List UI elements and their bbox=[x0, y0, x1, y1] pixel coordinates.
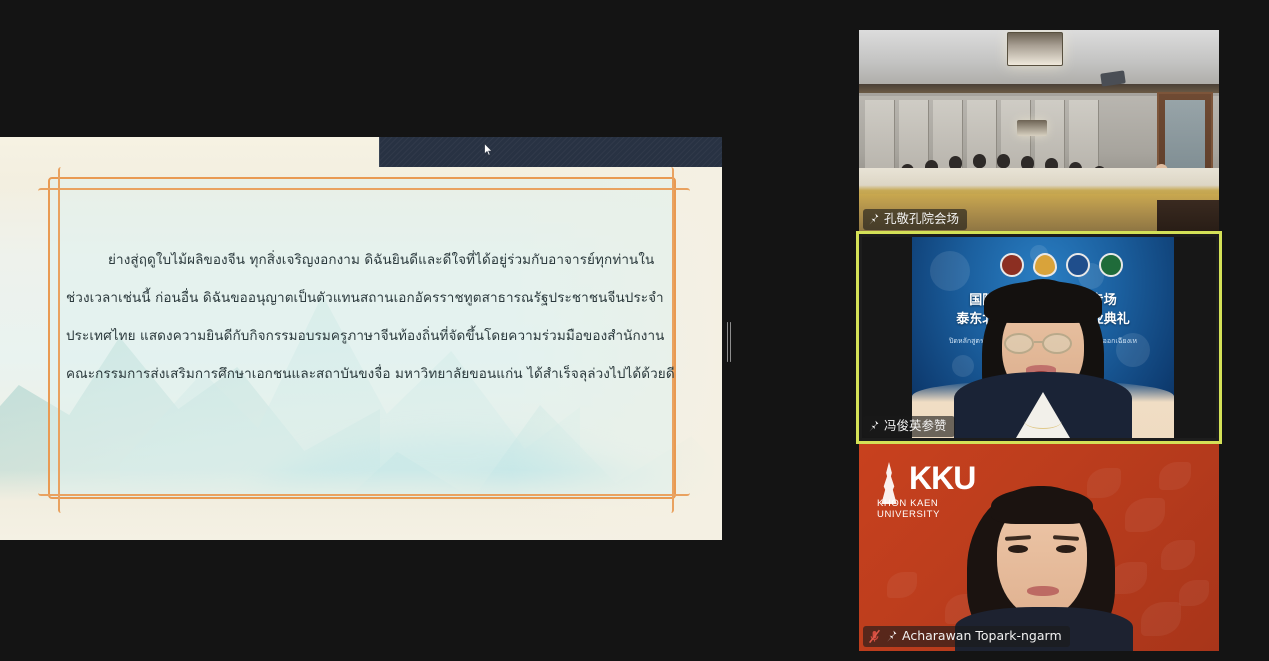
speaker-glasses-right bbox=[1042, 333, 1072, 354]
participant-eye-left bbox=[1008, 545, 1028, 553]
slide-body-text: ย่างสู่ฤดูใบไม้ผลิของจีน ทุกสิ่งเจริญงอก… bbox=[66, 241, 662, 393]
participant-name-label: Acharawan Topark-ngarm bbox=[902, 628, 1062, 644]
slide-paragraph-3: ประเทศไทย แสดงความยินดีกับกิจกรรมอบรมครู… bbox=[66, 317, 662, 355]
split-view-drag-handle[interactable] bbox=[725, 321, 733, 363]
participant-name-chip: Acharawan Topark-ngarm bbox=[863, 626, 1070, 647]
speaker-bangs bbox=[984, 281, 1102, 323]
kku-branded-scene: KKU KHON KAEN UNIVERSITY bbox=[859, 444, 1219, 651]
participant-name-chip: 冯俊英参赞 bbox=[863, 416, 955, 437]
speaker-glasses-left bbox=[1004, 333, 1034, 354]
participant-tile-active-speaker[interactable]: 国际中文 学孔子学院专场 泰东北民校 师培训班结业典礼 ปิดหลักสูตรฝ… bbox=[859, 234, 1219, 441]
participant-tile-conference-room[interactable]: 孔敬孔院会场 bbox=[859, 30, 1219, 234]
speaker-scene: 国际中文 学孔子学院专场 泰东北民校 师培训班结业典礼 ปิดหลักสูตรฝ… bbox=[862, 237, 1216, 438]
room-floor bbox=[1157, 200, 1219, 234]
speaker-necklace bbox=[1024, 413, 1062, 429]
room-pendant-light bbox=[1017, 120, 1047, 136]
mic-muted-icon bbox=[868, 629, 881, 644]
participant-name-label: 冯俊英参赞 bbox=[884, 418, 947, 434]
video-conference-window: ย่างสู่ฤดูใบไม้ผลิของจีน ทุกสิ่งเจริญงอก… bbox=[0, 0, 1269, 661]
participant-eye-right bbox=[1056, 545, 1076, 553]
kku-acronym: KKU bbox=[909, 462, 975, 495]
kku-full-name: KHON KAEN UNIVERSITY bbox=[877, 498, 940, 520]
participant-bangs bbox=[991, 488, 1093, 524]
participant-lips bbox=[1027, 586, 1059, 596]
presentation-slide[interactable]: ย่างสู่ฤดูใบไม้ผลิของจีน ทุกสิ่งเจริญงอก… bbox=[0, 137, 722, 540]
tile-video-feed: 国际中文 学孔子学院专场 泰东北民校 师培训班结业典礼 ปิดหลักสูตรฝ… bbox=[862, 237, 1216, 438]
pin-icon bbox=[868, 420, 879, 433]
shared-screen-region[interactable]: ย่างสู่ฤดูใบไม้ผลิของจีน ทุกสิ่งเจริญงอก… bbox=[0, 0, 740, 661]
speaker-glasses-bridge bbox=[1034, 341, 1044, 343]
pin-icon bbox=[886, 630, 897, 643]
participant-name-label: 孔敬孔院会场 bbox=[884, 211, 959, 227]
pin-icon bbox=[868, 213, 879, 226]
event-logo-row bbox=[1000, 253, 1123, 277]
slide-ornamental-frame: ย่างสู่ฤดูใบไม้ผลิของจีน ทุกสิ่งเจริญงอก… bbox=[48, 177, 676, 499]
partner-logo-3 bbox=[1066, 253, 1090, 277]
participant-name-chip: 孔敬孔院会场 bbox=[863, 209, 967, 230]
partner-logo-4 bbox=[1099, 253, 1123, 277]
slide-paragraph-1: ย่างสู่ฤดูใบไม้ผลิของจีน ทุกสิ่งเจริญงอก… bbox=[66, 241, 662, 279]
conference-room-scene bbox=[859, 30, 1219, 234]
tile-video-feed bbox=[859, 30, 1219, 234]
participant-gallery: 孔敬孔院会场 bbox=[859, 0, 1269, 661]
slide-paragraph-2: ช่วงเวลาเช่นนี้ ก่อนอื่น ดิฉันขออนุญาตเป… bbox=[66, 279, 662, 317]
slide-paragraph-4: คณะกรรมการส่งเสริมการศึกษาเอกชนและสถาบัน… bbox=[66, 355, 662, 393]
shared-screen-control-bar[interactable] bbox=[379, 137, 722, 167]
tile-video-feed: KKU KHON KAEN UNIVERSITY bbox=[859, 444, 1219, 651]
partner-logo-2 bbox=[1033, 253, 1057, 277]
partner-logo-1 bbox=[1000, 253, 1024, 277]
participant-tile-kku[interactable]: KKU KHON KAEN UNIVERSITY bbox=[859, 444, 1219, 651]
room-chandelier bbox=[1007, 32, 1063, 66]
